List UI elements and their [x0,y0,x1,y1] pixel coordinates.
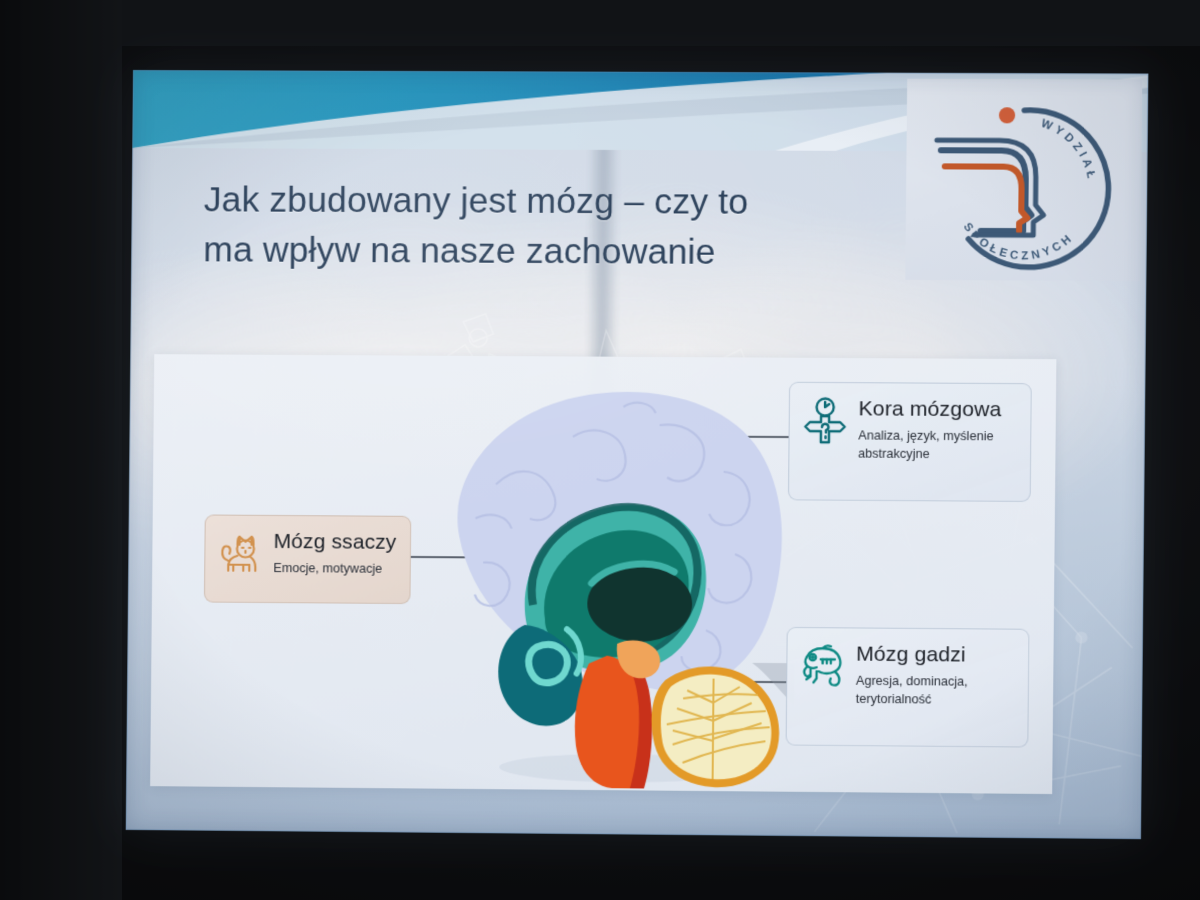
info-card-cortex[interactable]: Kora mózgowa Analiza, język, myślenie ab… [788,382,1032,502]
thinking-figure-icon [803,396,848,445]
title-line-1: Jak zbudowany jest mózg – czy to [204,174,909,228]
info-card-mammal[interactable]: Mózg ssaczy Emocje, motywacje [204,514,411,604]
info-card-reptile[interactable]: Mózg gadzi Agresja, dominacja, terytoria… [786,627,1030,748]
card-title: Mózg gadzi [856,643,1012,667]
card-text-block: Mózg gadzi Agresja, dominacja, terytoria… [856,642,1012,710]
content-panel: Kora mózgowa Analiza, język, myślenie ab… [150,354,1056,794]
projection-screen: WYDZIAŁ NAUK SPOŁECZNYCH Jak zbudowany j… [126,70,1149,839]
card-text-block: Mózg ssaczy Emocje, motywacje [273,529,396,579]
ceiling-strip [120,0,1200,46]
page-title: Jak zbudowany jest mózg – czy to ma wpły… [203,174,908,278]
logo-dot [999,107,1015,123]
brain-cross-section-illustration [419,366,806,790]
card-text-block: Kora mózgowa Analiza, język, myślenie ab… [858,396,1014,464]
presentation-slide: WYDZIAŁ NAUK SPOŁECZNYCH Jak zbudowany j… [126,70,1149,839]
card-title: Mózg ssaczy [273,530,396,554]
cat-icon [218,529,263,577]
faculty-logo-plaque: WYDZIAŁ NAUK SPOŁECZNYCH [905,79,1142,281]
card-subtitle: Analiza, język, myślenie abstrakcyjne [858,428,1014,465]
left-wall [0,0,122,900]
card-title: Kora mózgowa [858,397,1014,421]
card-subtitle: Agresja, dominacja, terytorialność [856,673,1012,710]
chameleon-icon [800,641,845,690]
title-line-2: ma wpływ na nasze zachowanie [203,225,908,279]
wydzial-nauk-spolecznych-logo: WYDZIAŁ NAUK SPOŁECZNYCH [922,88,1126,272]
card-subtitle: Emocje, motywacje [273,560,396,579]
